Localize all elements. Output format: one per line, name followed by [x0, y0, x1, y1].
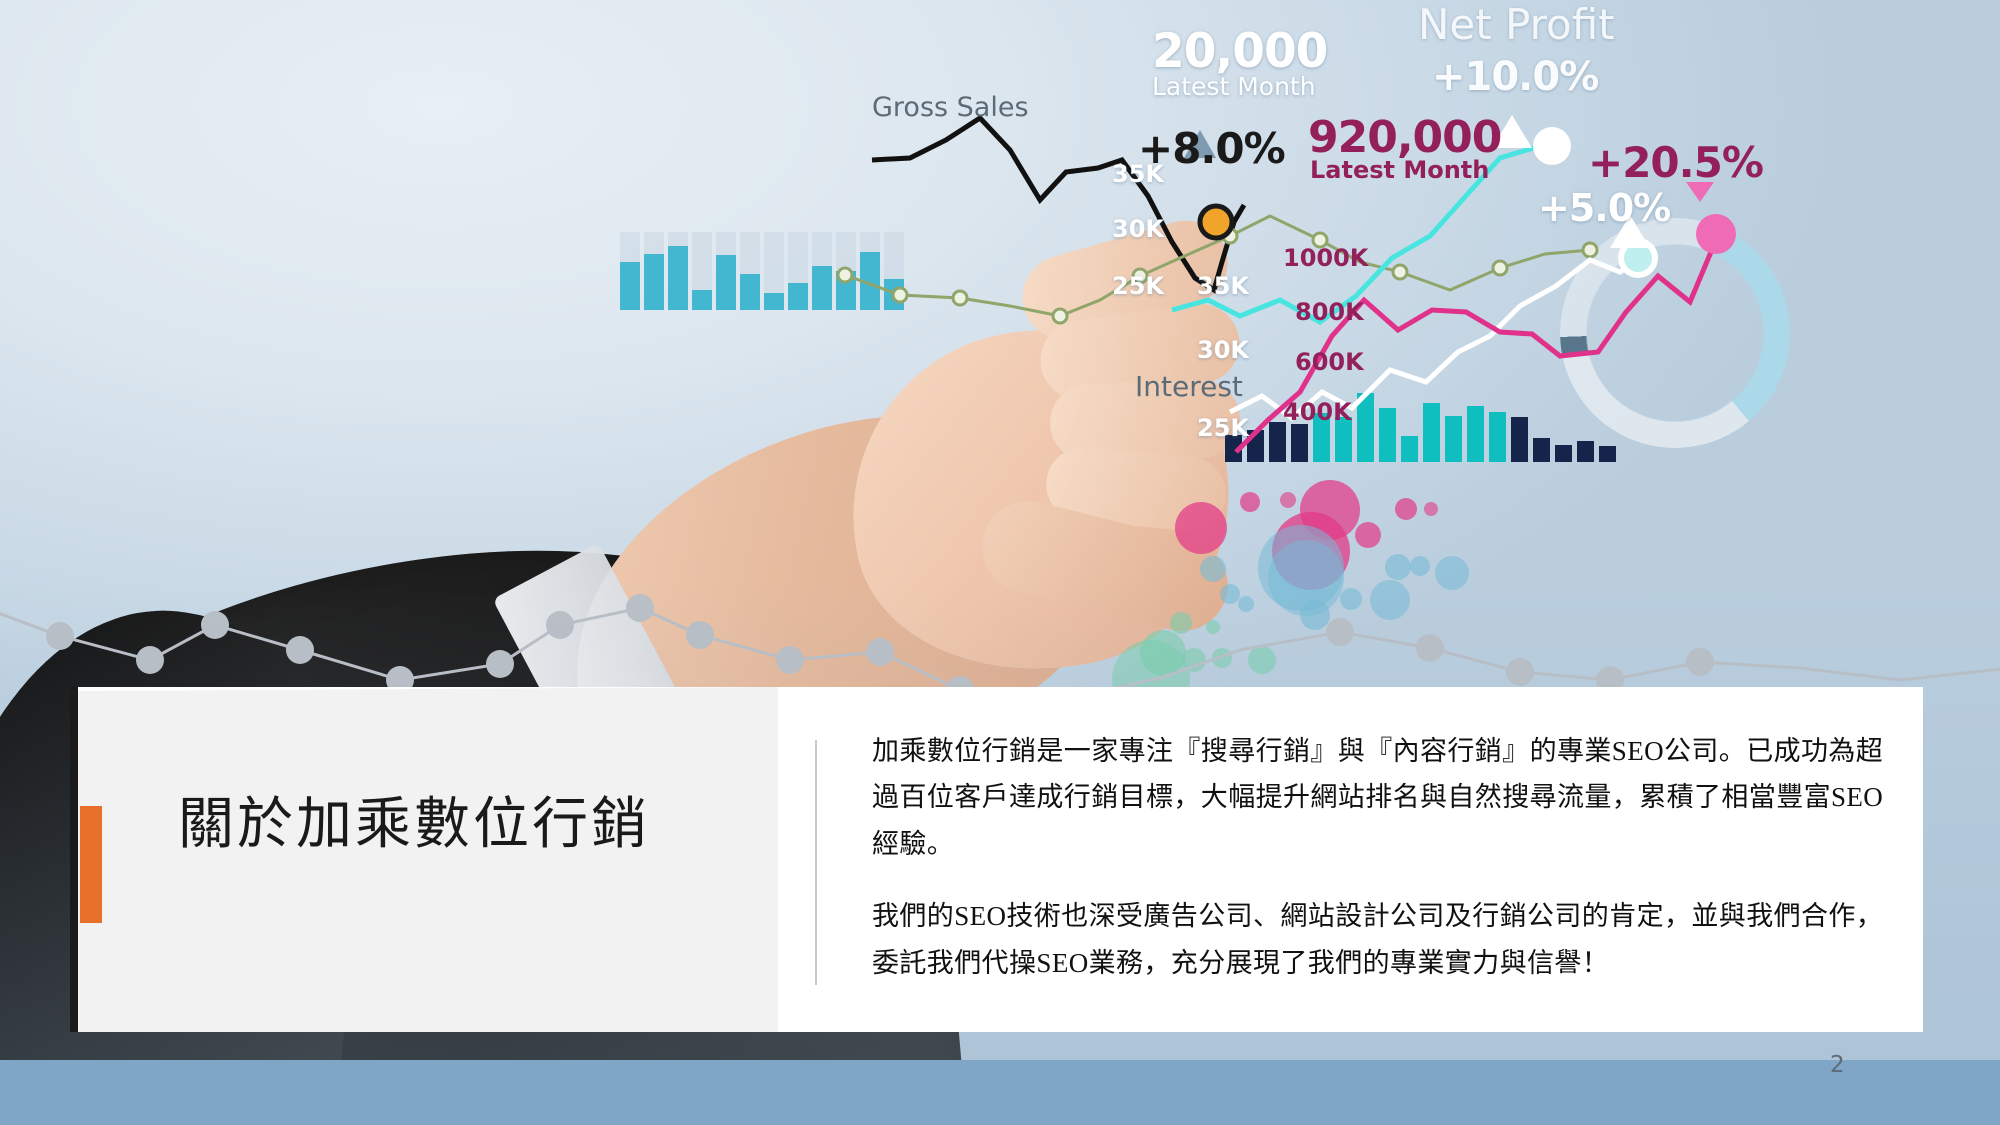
vertical-divider — [815, 740, 817, 985]
paragraph-2: 我們的SEO技術也深受廣告公司、網站設計公司及行銷公司的肯定，並與我們合作，委託… — [872, 893, 1902, 986]
body-text: 加乘數位行銷是一家專注『搜尋行銷』與『內容行銷』的專業SEO公司。已成功為超過百… — [872, 728, 1902, 986]
panel-left-edge — [70, 687, 78, 1032]
paragraph-1: 加乘數位行銷是一家專注『搜尋行銷』與『內容行銷』的專業SEO公司。已成功為超過百… — [872, 728, 1902, 867]
accent-bar — [80, 806, 102, 923]
page-number: 2 — [1830, 1052, 1845, 1078]
slide: Gross Sales 20,000 Latest Month +8.0% Ne… — [0, 0, 2000, 1125]
page-title: 關於加乘數位行銷 — [178, 793, 738, 857]
title-panel — [78, 687, 778, 1032]
